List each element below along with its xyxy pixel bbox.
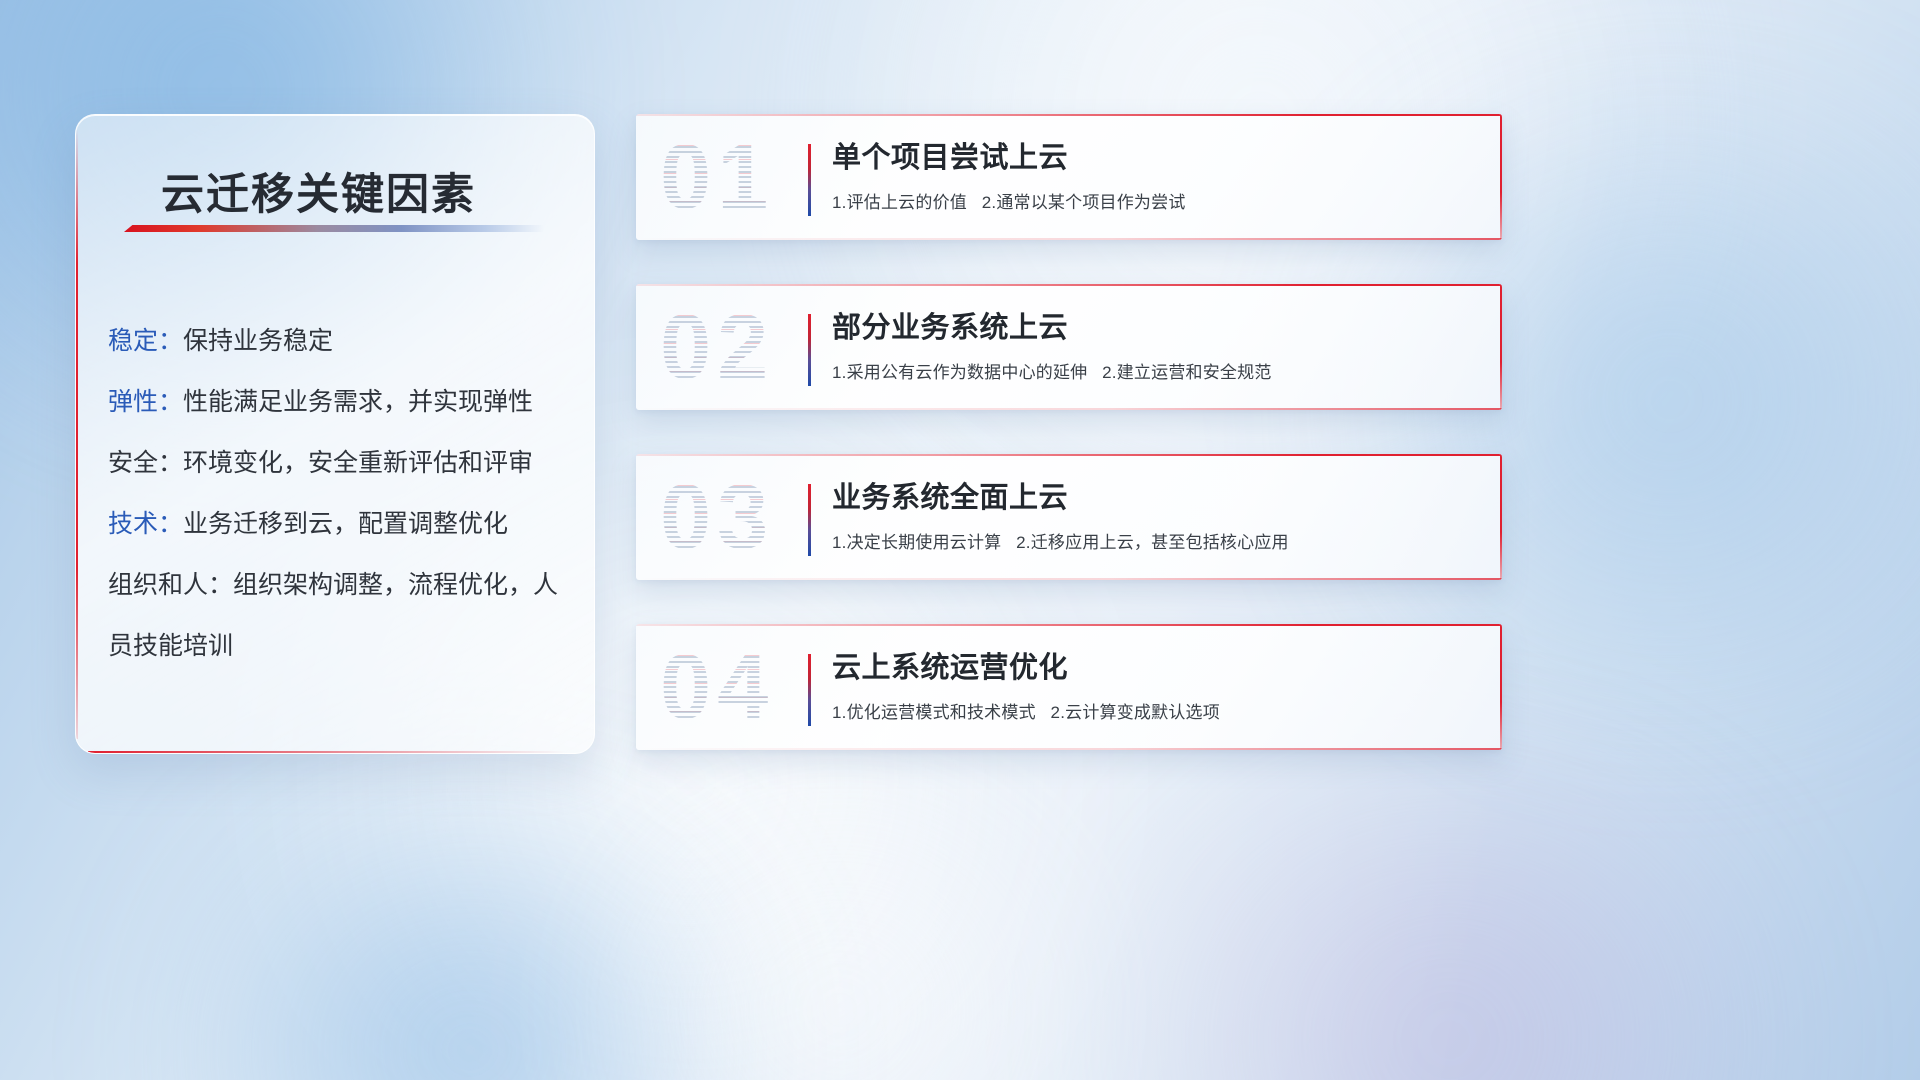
stage-card[interactable]: 0404云上系统运营优化1.优化运营模式和技术模式 2.云计算变成默认选项 xyxy=(636,624,1502,750)
stage-divider-bar xyxy=(808,314,811,386)
title-underline-bar xyxy=(124,225,544,232)
stage-card[interactable]: 0101单个项目尝试上云1.评估上云的价值 2.通常以某个项目作为尝试 xyxy=(636,114,1502,240)
key-factors-panel: 云迁移关键因素 稳定：保持业务稳定弹性：性能满足业务需求，并实现弹性安全：环境变… xyxy=(75,114,595,754)
stage-number: 03 xyxy=(660,471,774,563)
stage-divider-bar xyxy=(808,144,811,216)
stage-card[interactable]: 0303业务系统全面上云1.决定长期使用云计算 2.迁移应用上云，甚至包括核心应… xyxy=(636,454,1502,580)
stage-card-bottom-accent xyxy=(636,238,1502,240)
key-factor-text: 业务迁移到云，配置调整优化 xyxy=(183,510,508,538)
stage-card-subtitle: 1.采用公有云作为数据中心的延伸 2.建立运营和安全规范 xyxy=(832,358,1474,383)
stage-card-body: 业务系统全面上云1.决定长期使用云计算 2.迁移应用上云，甚至包括核心应用 xyxy=(832,480,1474,553)
stage-card-subtitle: 1.评估上云的价值 2.通常以某个项目作为尝试 xyxy=(832,188,1474,213)
stage-card-bottom-accent xyxy=(636,578,1502,580)
stage-card-title: 业务系统全面上云 xyxy=(832,480,1474,516)
stage-card-title: 单个项目尝试上云 xyxy=(832,140,1474,176)
slide-stage: 云迁移关键因素 稳定：保持业务稳定弹性：性能满足业务需求，并实现弹性安全：环境变… xyxy=(0,0,1920,1080)
key-factor-label: 技术： xyxy=(108,510,183,538)
stage-card-subtitle: 1.决定长期使用云计算 2.迁移应用上云，甚至包括核心应用 xyxy=(832,528,1474,553)
key-factors-list: 稳定：保持业务稳定弹性：性能满足业务需求，并实现弹性安全：环境变化，安全重新评估… xyxy=(108,311,570,677)
stage-card[interactable]: 0202部分业务系统上云1.采用公有云作为数据中心的延伸 2.建立运营和安全规范 xyxy=(636,284,1502,410)
key-factor-text: 保持业务稳定 xyxy=(183,327,333,355)
key-factor-label: 稳定： xyxy=(108,327,183,355)
key-factor-text: 环境变化，安全重新评估和评审 xyxy=(183,449,533,477)
key-factor-item: 弹性：性能满足业务需求，并实现弹性 xyxy=(108,372,570,433)
key-factor-item: 稳定：保持业务稳定 xyxy=(108,311,570,372)
stage-card-subtitle: 1.优化运营模式和技术模式 2.云计算变成默认选项 xyxy=(832,698,1474,723)
stage-divider-bar xyxy=(808,484,811,556)
stage-card-body: 云上系统运营优化1.优化运营模式和技术模式 2.云计算变成默认选项 xyxy=(832,650,1474,723)
stage-number: 02 xyxy=(660,301,774,393)
stage-card-bottom-accent xyxy=(636,408,1502,410)
page-title: 云迁移关键因素 xyxy=(161,160,476,222)
stage-divider-bar xyxy=(808,654,811,726)
stage-card-title: 云上系统运营优化 xyxy=(832,650,1474,686)
key-factor-item: 安全：环境变化，安全重新评估和评审 xyxy=(108,433,570,494)
key-factor-item: 组织和人：组织架构调整，流程优化，人员技能培训 xyxy=(108,555,570,677)
stage-card-body: 单个项目尝试上云1.评估上云的价值 2.通常以某个项目作为尝试 xyxy=(832,140,1474,213)
key-factor-item: 技术：业务迁移到云，配置调整优化 xyxy=(108,494,570,555)
stage-number: 01 xyxy=(660,131,774,223)
stage-number: 04 xyxy=(660,641,774,733)
key-factor-label: 组织和人： xyxy=(108,571,233,599)
stage-card-title: 部分业务系统上云 xyxy=(832,310,1474,346)
key-factor-label: 弹性： xyxy=(108,388,183,416)
stage-cards-list: 0101单个项目尝试上云1.评估上云的价值 2.通常以某个项目作为尝试0202部… xyxy=(636,114,1502,794)
stage-card-body: 部分业务系统上云1.采用公有云作为数据中心的延伸 2.建立运营和安全规范 xyxy=(832,310,1474,383)
key-factor-label: 安全： xyxy=(108,449,183,477)
stage-card-bottom-accent xyxy=(636,748,1502,750)
key-factor-text: 性能满足业务需求，并实现弹性 xyxy=(183,388,533,416)
